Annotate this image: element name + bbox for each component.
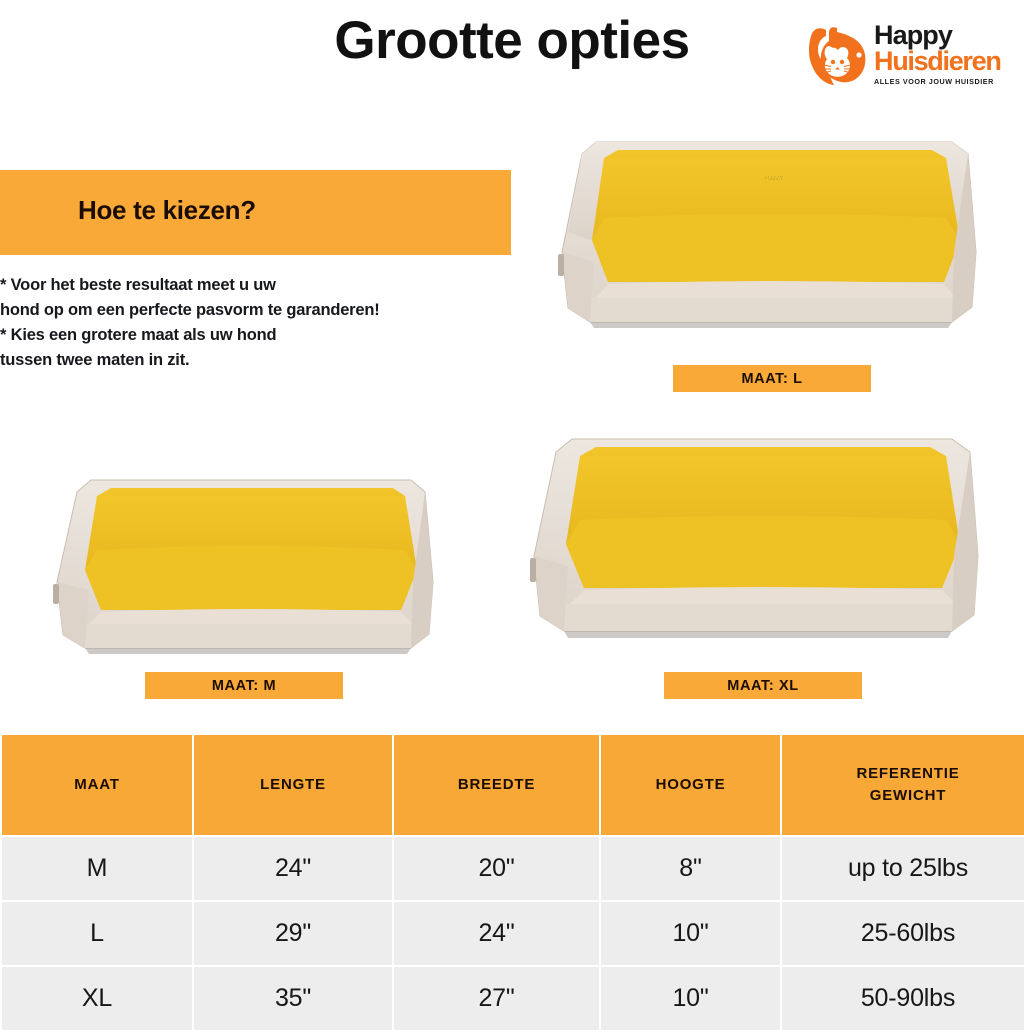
cell-gewicht: 50-90lbs: [781, 966, 1024, 1031]
header-weight-line-1: REFERENTIE: [782, 763, 1024, 785]
how-to-choose-title: Hoe te kiezen?: [78, 195, 256, 226]
note-line: * Kies een grotere maat als uw hond: [0, 323, 470, 348]
note-line: tussen twee maten in zit.: [0, 348, 470, 373]
cell-hoogte: 8": [600, 836, 781, 901]
how-to-choose-banner: Hoe te kiezen?: [0, 170, 511, 255]
size-label-xl: MAAT: XL: [664, 672, 862, 699]
brand-word-happy: Happy: [874, 22, 1002, 48]
cell-lengte: 24": [193, 836, 393, 901]
cell-hoogte: 10": [600, 966, 781, 1031]
svg-text:FUZZY: FUZZY: [764, 176, 783, 182]
dog-cat-silhouette-icon: [806, 24, 872, 88]
column-header-maat: MAAT: [1, 734, 193, 836]
cell-maat: XL: [1, 966, 193, 1031]
cell-maat: M: [1, 836, 193, 901]
cell-lengte: 29": [193, 901, 393, 966]
product-image-bed-xl: [518, 428, 1005, 671]
brand-word-huisdieren: Huisdieren: [874, 48, 1002, 75]
cell-breedte: 20": [393, 836, 600, 901]
size-label-m: MAAT: M: [145, 672, 343, 699]
size-chart-table: MAAT LENGTE BREEDTE HOOGTE REFERENTIE GE…: [0, 733, 1024, 1032]
cell-maat: L: [1, 901, 193, 966]
cell-breedte: 27": [393, 966, 600, 1031]
brand-tagline: ALLES VOOR JOUW HUISDIER: [874, 77, 1002, 86]
cell-breedte: 24": [393, 901, 600, 966]
cell-gewicht: 25-60lbs: [781, 901, 1024, 966]
column-header-lengte: LENGTE: [193, 734, 393, 836]
table-row: XL 35" 27" 10" 50-90lbs: [1, 966, 1024, 1031]
note-line: hond op om een perfecte pasvorm te garan…: [0, 298, 470, 323]
table-row: M 24" 20" 8" up to 25lbs: [1, 836, 1024, 901]
table-header-row: MAAT LENGTE BREEDTE HOOGTE REFERENTIE GE…: [1, 734, 1024, 836]
how-to-choose-notes: * Voor het beste resultaat meet u uw hon…: [0, 273, 470, 373]
product-image-bed-m: [45, 468, 455, 673]
product-image-bed-l: FUZZY: [548, 132, 1000, 360]
size-label-l: MAAT: L: [673, 365, 871, 392]
brand-wordmark: Happy Huisdieren ALLES VOOR JOUW HUISDIE…: [874, 22, 1002, 86]
column-header-breedte: BREEDTE: [393, 734, 600, 836]
cell-gewicht: up to 25lbs: [781, 836, 1024, 901]
header-weight-line-2: GEWICHT: [782, 785, 1024, 807]
brand-logo: Happy Huisdieren ALLES VOOR JOUW HUISDIE…: [806, 22, 1002, 98]
column-header-referentie-gewicht: REFERENTIE GEWICHT: [781, 734, 1024, 836]
column-header-hoogte: HOOGTE: [600, 734, 781, 836]
table-row: L 29" 24" 10" 25-60lbs: [1, 901, 1024, 966]
note-line: * Voor het beste resultaat meet u uw: [0, 273, 470, 298]
cell-lengte: 35": [193, 966, 393, 1031]
cell-hoogte: 10": [600, 901, 781, 966]
